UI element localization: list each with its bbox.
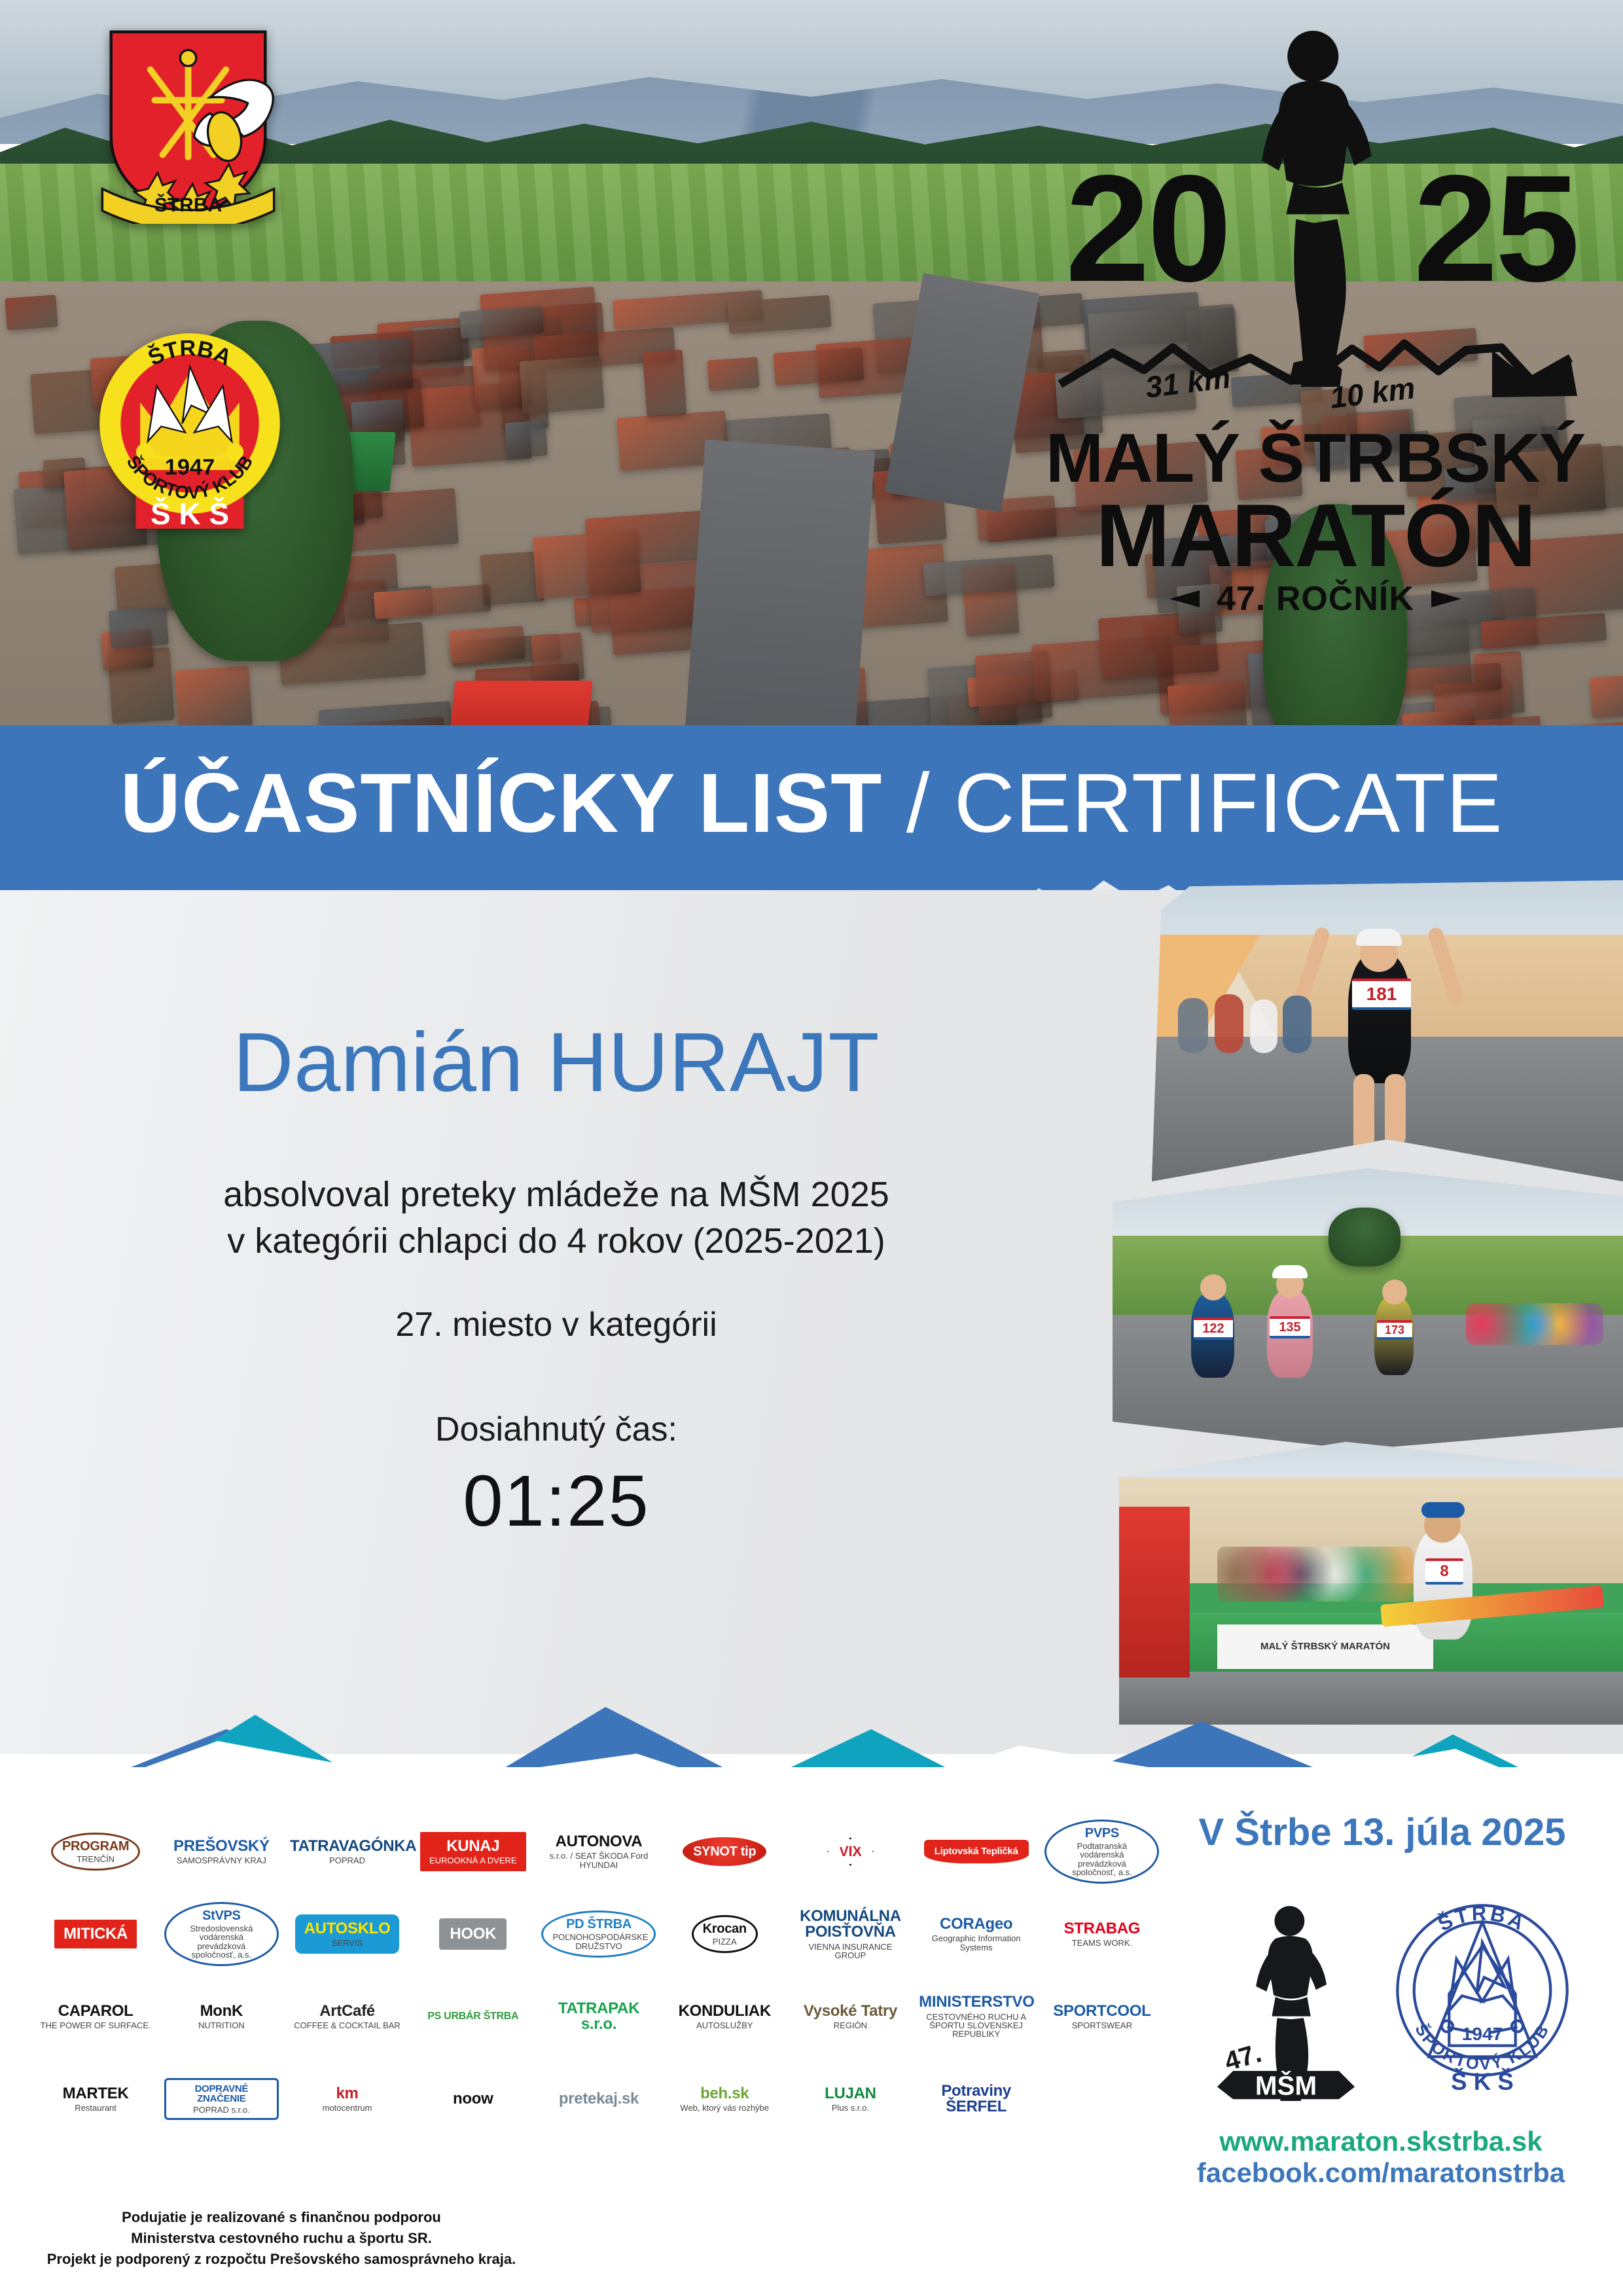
photo-collage: 181 122 135 173 MALÝ ŠTRBSKÝ MARATÓN xyxy=(1113,880,1623,1725)
brand-edition-label: 47. ROČNÍK xyxy=(1217,579,1414,619)
sponsor-name: SYNOT tip xyxy=(693,1845,756,1858)
sponsor-logo-mark: PD ŠTRBAPOĽNOHOSPODÁRSKE DRUŽSTVO xyxy=(541,1910,656,1958)
sponsor-name: TATRAVAGÓNKA xyxy=(290,1839,404,1854)
sponsor-logo-mark: StVPSStredoslovenská vodárenská prevádzk… xyxy=(164,1902,279,1966)
sponsor-name: PD ŠTRBA xyxy=(552,1918,645,1931)
arrow-right-icon xyxy=(1431,590,1461,607)
sponsor-tagline: TRENČÍN xyxy=(62,1855,129,1863)
sponsor-name: KOMUNÁLNA POISŤOVŇA xyxy=(793,1909,908,1941)
photo1-leg-right xyxy=(1385,1074,1406,1146)
sponsor-tagline: Web, ktorý vás rozhýbe xyxy=(680,2104,769,2112)
sponsor-logo: KOMUNÁLNA POISŤOVŇAVIENNA INSURANCE GROU… xyxy=(793,1909,908,1960)
sponsor-name: VIX xyxy=(839,1844,862,1859)
sponsor-name: Potraviny ŠERFEL xyxy=(919,2083,1033,2115)
sponsor-logo: Liptovská Tepličká xyxy=(924,1840,1029,1863)
photo2-pack xyxy=(1466,1303,1603,1345)
sponsor-name: KONDULIAK xyxy=(679,2003,771,2019)
description-line-1: absolvoval preteky mládeže na MŠM 2025 xyxy=(0,1172,1113,1218)
banner-title: ÚČASTNÍCKY LIST / CERTIFICATE xyxy=(0,762,1623,846)
sponsor-logo-mark: HOOK xyxy=(439,1918,507,1950)
sponsor-logo: PD ŠTRBAPOĽNOHOSPODÁRSKE DRUŽSTVO xyxy=(541,1910,656,1958)
sponsor-logo-mark: DOPRAVNÉ ZNAČENIEPOPRAD s.r.o. xyxy=(164,2078,279,2121)
sponsor-name: beh.sk xyxy=(680,2086,769,2102)
arrow-left-icon xyxy=(1169,590,1200,607)
banner-title-light: CERTIFICATE xyxy=(954,757,1503,850)
sponsor-logo: PROGRAMTRENČÍN xyxy=(51,1833,140,1871)
sks-badge-abbrev: Š K Š xyxy=(1451,2068,1514,2095)
sponsor-logo-mark: KrocanPIZZA xyxy=(692,1915,758,1954)
sponsor-section: PROGRAMTRENČÍNPREŠOVSKÝSAMOSPRÁVNY KRAJT… xyxy=(0,1767,1623,2296)
sponsor-logo-mark: TATRAPAK s.r.o. xyxy=(541,2001,656,2033)
sponsor-name: Liptovská Tepličká xyxy=(935,1846,1018,1856)
sponsor-name: PS URBÁR ŠTRBA xyxy=(427,2011,518,2022)
sks-badge-year: 1947 xyxy=(1462,2023,1503,2044)
sponsor-tagline: PIZZA xyxy=(703,1937,747,1946)
official-badges: 47. MŠM 1947 xyxy=(1178,1892,1584,2108)
sponsor-name: Krocan xyxy=(703,1922,747,1935)
sponsor-logo: Potraviny ŠERFEL xyxy=(919,2083,1033,2115)
sponsor-name: pretekaj.sk xyxy=(559,2091,639,2107)
sponsor-tagline: Stredoslovenská vodárenská prevádzková s… xyxy=(175,1924,268,1959)
photo3-red-arch-leg xyxy=(1119,1507,1190,1677)
time-label: Dosiahnutý čas: xyxy=(0,1407,1113,1452)
certificate-date: V Štrbe 13. júla 2025 xyxy=(1179,1810,1585,1854)
photo3-event-banner: MALÝ ŠTRBSKÝ MARATÓN xyxy=(1217,1624,1433,1669)
sponsor-logo-mark: beh.skWeb, ktorý vás rozhýbe xyxy=(680,2086,769,2113)
fineprint-line-2: Ministerstva cestovného ruchu a športu S… xyxy=(39,2228,524,2249)
description-line-2: v kategórii chlapci do 4 rokov (2025-202… xyxy=(0,1218,1113,1265)
rooftop xyxy=(727,295,831,334)
sponsor-logo-mark: kmmotocentrum xyxy=(323,2086,372,2113)
club-abbrev: Š K Š xyxy=(151,497,229,530)
sponsor-tagline: Geographic Information Systems xyxy=(919,1934,1033,1952)
rooftop xyxy=(109,607,168,649)
sponsor-logo-mark: PVPSPodtatranská vodárenská prevádzková … xyxy=(1044,1820,1159,1884)
sponsor-name: STRABAG xyxy=(1064,1921,1141,1937)
sponsor-logo: STRABAGTEAMS WORK. xyxy=(1064,1921,1141,1948)
sponsor-logo: SPORTCOOLSPORTSWEAR xyxy=(1053,2003,1150,2030)
sponsor-logo: TATRAPAK s.r.o. xyxy=(541,2001,656,2033)
sponsor-tagline: SPORTSWEAR xyxy=(1053,2021,1150,2030)
sponsor-logo-mark: PREŠOVSKÝSAMOSPRÁVNY KRAJ xyxy=(173,1839,270,1865)
sponsor-tagline: s.r.o. / SEAT ŠKODA Ford HYUNDAI xyxy=(541,1852,656,1869)
rooftop xyxy=(519,356,604,414)
sponsor-tagline: VIENNA INSURANCE GROUP xyxy=(793,1943,908,1960)
sponsor-logo: pretekaj.sk xyxy=(559,2091,639,2107)
photo3-winner-headband xyxy=(1421,1502,1465,1518)
sponsor-logo: KUNAJEUROOKNÁ A DVERE xyxy=(420,1832,526,1872)
fineprint-line-3: Projekt je podporený z rozpočtu Prešovsk… xyxy=(39,2249,524,2270)
sponsor-logo: DOPRAVNÉ ZNAČENIEPOPRAD s.r.o. xyxy=(164,2078,279,2121)
sks-strba-club-logo: 1947 ŠTRBA ŠPORTOVÝ KLUB Š K Š xyxy=(92,327,288,530)
photo2-lone-tree xyxy=(1329,1208,1400,1266)
sponsor-name: AUTOSKLO xyxy=(304,1921,391,1937)
sponsor-name: Vysoké Tatry xyxy=(804,2003,897,2019)
sponsor-name: PROGRAM xyxy=(62,1840,129,1853)
hero-road xyxy=(683,440,875,772)
photo3-spectators xyxy=(1217,1547,1414,1602)
sponsor-tagline: POĽNOHOSPODÁRSKE DRUŽSTVO xyxy=(552,1933,645,1950)
sponsor-tagline: POPRAD s.r.o. xyxy=(174,2106,269,2114)
brand-line-3-wrap: 47. ROČNÍK xyxy=(1034,579,1597,619)
sponsor-name: HOOK xyxy=(450,1926,496,1942)
sponsor-tagline: NUTRITION xyxy=(198,2021,245,2030)
brand-distances: 31 km 10 km xyxy=(1034,324,1597,403)
photo-finisher-celebrating: 181 xyxy=(1152,880,1623,1181)
sponsor-logo: PREŠOVSKÝSAMOSPRÁVNY KRAJ xyxy=(173,1839,270,1865)
sponsor-name: ArtCafé xyxy=(294,2003,401,2019)
rooftop xyxy=(175,666,253,733)
photo1-runner-cap xyxy=(1356,929,1402,946)
msm-badge-text: MŠM xyxy=(1255,2071,1317,2101)
rooftop xyxy=(975,651,1053,723)
crest-ribbon-label: ŠTRBA xyxy=(154,194,222,216)
sponsor-logo-mark: STRABAGTEAMS WORK. xyxy=(1064,1921,1141,1948)
sponsor-name: SPORTCOOL xyxy=(1053,2003,1150,2019)
sponsor-tagline: POPRAD xyxy=(290,1856,404,1865)
sponsor-logo-mark: MITICKÁ xyxy=(54,1920,137,1948)
funding-disclaimer: Podujatie je realizované s finančnou pod… xyxy=(39,2207,524,2270)
photo-finish-line: MALÝ ŠTRBSKÝ MARATÓN 8 xyxy=(1119,1430,1623,1725)
sponsor-logo: KrocanPIZZA xyxy=(692,1915,758,1954)
mountain-outline-icon xyxy=(1034,324,1597,409)
photo1-crowd-4 xyxy=(1283,996,1311,1053)
sponsor-tagline: COFFEE & COCKTAIL BAR xyxy=(294,2021,401,2030)
sponsor-logo-mark: CAPAROLTHE POWER OF SURFACE. xyxy=(41,2003,151,2030)
photo2-runner-1-head xyxy=(1200,1274,1226,1300)
brand-line-2: MARATÓN xyxy=(1034,484,1597,586)
sponsor-name: MARTEK xyxy=(63,2086,129,2102)
sponsor-logo: CAPAROLTHE POWER OF SURFACE. xyxy=(41,2003,151,2030)
sponsor-name: MINISTERSTVO xyxy=(919,1994,1033,2010)
sponsor-logo-grid: PROGRAMTRENČÍNPREŠOVSKÝSAMOSPRÁVNY KRAJT… xyxy=(36,1813,1162,2138)
rooftop xyxy=(505,420,547,457)
sponsor-name: CORAgeo xyxy=(919,1916,1033,1932)
sponsor-logo-mark: MARTEKRestaurant xyxy=(63,2086,129,2113)
participant-name: Damián HURAJT xyxy=(0,1014,1113,1111)
sponsor-logo-mark: Vysoké TatryREGIÓN xyxy=(804,2003,897,2030)
sks-badge-top-label: ŠTRBA xyxy=(1434,1902,1530,1936)
sponsor-tagline: REGIÓN xyxy=(804,2021,897,2030)
sponsor-logo-mark: MINISTERSTVOCESTOVNÉHO RUCHU A ŠPORTU SL… xyxy=(919,1994,1033,2038)
website-link[interactable]: www.maraton.skstrba.sk xyxy=(1185,2126,1577,2157)
sponsor-logo: MonKNUTRITION xyxy=(198,2003,245,2030)
photo2-runner-3-head xyxy=(1382,1280,1407,1304)
photo2-bib-1: 122 xyxy=(1194,1318,1233,1340)
sponsor-name: TATRAPAK s.r.o. xyxy=(541,2001,656,2033)
sponsor-logo-mark: noow xyxy=(453,2091,493,2107)
banner-title-bold: ÚČASTNÍCKY LIST xyxy=(120,757,883,850)
photo-runners-on-course: 122 135 173 xyxy=(1113,1168,1623,1450)
club-year: 1947 xyxy=(165,455,215,480)
contact-links: www.maraton.skstrba.sk facebook.com/mara… xyxy=(1185,2126,1577,2189)
rooftop xyxy=(531,632,584,683)
sponsor-name: KUNAJ xyxy=(429,1839,517,1854)
sponsor-logo: TATRAVAGÓNKAPOPRAD xyxy=(290,1839,404,1865)
photo2-bib-3: 173 xyxy=(1377,1320,1412,1340)
msm-47-badge: 47. MŠM xyxy=(1198,1898,1374,2101)
sponsor-name: MonK xyxy=(198,2003,245,2019)
sponsor-tagline: CESTOVNÉHO RUCHU A ŠPORTU SLOVENSKEJ REP… xyxy=(919,2013,1033,2039)
brand-year-right: 25 xyxy=(1414,167,1577,291)
rooftop xyxy=(707,357,759,391)
sponsor-name: CAPAROL xyxy=(41,2003,151,2019)
sponsor-name: PREŠOVSKÝ xyxy=(173,1839,270,1854)
rooftop xyxy=(643,350,687,417)
sponsor-logo: KONDULIAKAUTOSLUŽBY xyxy=(679,2003,771,2030)
sponsor-logo: ArtCaféCOFFEE & COCKTAIL BAR xyxy=(294,2003,401,2030)
sponsor-logo-mark: KOMUNÁLNA POISŤOVŇAVIENNA INSURANCE GROU… xyxy=(793,1909,908,1960)
photo1-bib: 181 xyxy=(1352,978,1411,1010)
photo2-runner-2-cap xyxy=(1272,1265,1308,1278)
banner-title-separator: / xyxy=(882,757,954,850)
sponsor-logo-mark: VIX xyxy=(827,1837,874,1866)
sponsor-name: km xyxy=(323,2086,372,2102)
sponsor-logo: SYNOT tip xyxy=(683,1837,766,1866)
sponsor-name: PVPS xyxy=(1056,1827,1148,1840)
sponsor-tagline: Restaurant xyxy=(63,2104,129,2112)
sponsor-logo-mark: CORAgeoGeographic Information Systems xyxy=(919,1916,1033,1952)
time-value: 01:25 xyxy=(0,1460,1113,1543)
sponsor-tagline: EUROOKNÁ A DVERE xyxy=(429,1856,517,1865)
sponsor-logo-mark: AUTOSKLOSERVIS xyxy=(295,1914,400,1954)
sponsor-logo-mark: TATRAVAGÓNKAPOPRAD xyxy=(290,1839,404,1865)
sks-stamp-badge: 1947 ŠTRBA ŠPORTOVÝ KLUB Š K Š xyxy=(1387,1898,1577,2101)
sponsor-logo: AUTOSKLOSERVIS xyxy=(295,1914,400,1954)
sponsor-tagline: SAMOSPRÁVNY KRAJ xyxy=(173,1856,270,1865)
sponsor-logo-mark: Potraviny ŠERFEL xyxy=(919,2083,1033,2115)
sponsor-logo: HOOK xyxy=(439,1918,507,1950)
sponsor-name: AUTONOVA xyxy=(541,1834,656,1850)
rooftop xyxy=(1168,681,1247,732)
rooftop xyxy=(5,295,58,330)
sponsor-tagline: SERVIS xyxy=(304,1939,391,1947)
photo1-runner-body xyxy=(1348,952,1411,1083)
sponsor-tagline: Podtatranská vodárenská prevádzková spol… xyxy=(1056,1842,1148,1876)
sponsor-tagline: motocentrum xyxy=(323,2104,372,2112)
sponsor-logo-mark: KUNAJEUROOKNÁ A DVERE xyxy=(420,1832,526,1872)
photo1-crowd-2 xyxy=(1215,994,1243,1053)
facebook-link[interactable]: facebook.com/maratonstrba xyxy=(1185,2157,1577,2189)
sponsor-logo: PVPSPodtatranská vodárenská prevádzková … xyxy=(1044,1820,1159,1884)
sponsor-name: noow xyxy=(453,2091,493,2107)
rooftop xyxy=(1590,675,1623,719)
sponsor-logo-mark: LUJANPlus s.r.o. xyxy=(825,2086,876,2113)
sponsor-logo: LUJANPlus s.r.o. xyxy=(825,2086,876,2113)
sponsor-logo: Vysoké TatryREGIÓN xyxy=(804,2003,897,2030)
sponsor-logo-mark: pretekaj.sk xyxy=(559,2091,639,2107)
sponsor-tagline: AUTOSLUŽBY xyxy=(679,2021,771,2030)
sponsor-tagline: TEAMS WORK. xyxy=(1064,1939,1141,1947)
sponsor-logo-mark: SPORTCOOLSPORTSWEAR xyxy=(1053,2003,1150,2030)
sponsor-logo-mark: AUTONOVAs.r.o. / SEAT ŠKODA Ford HYUNDAI xyxy=(541,1834,656,1869)
sponsor-logo: AUTONOVAs.r.o. / SEAT ŠKODA Ford HYUNDAI xyxy=(541,1834,656,1869)
marathon-brand-block: 20 25 31 km 10 km MALÝ ŠTRBSKÝ MARATÓN 4… xyxy=(1034,26,1597,622)
sponsor-logo: CORAgeoGeographic Information Systems xyxy=(919,1916,1033,1952)
sponsor-tagline: THE POWER OF SURFACE. xyxy=(41,2021,151,2030)
certificate-description: absolvoval preteky mládeže na MŠM 2025 v… xyxy=(0,1172,1113,1265)
photo1-crowd-1 xyxy=(1178,998,1208,1053)
photo3-bib: 8 xyxy=(1425,1558,1463,1585)
sponsor-name: MITICKÁ xyxy=(63,1926,128,1942)
sponsor-logo-mark: PS URBÁR ŠTRBA xyxy=(425,2009,521,2024)
sponsor-logo: MARTEKRestaurant xyxy=(63,2086,129,2113)
sponsor-name: DOPRAVNÉ ZNAČENIE xyxy=(174,2084,269,2104)
sponsor-logo: VIX xyxy=(827,1837,874,1866)
sponsor-logo-mark: MonKNUTRITION xyxy=(198,2003,245,2030)
sponsor-name: StVPS xyxy=(175,1909,268,1922)
rooftop xyxy=(448,626,525,664)
sponsor-logo: beh.skWeb, ktorý vás rozhýbe xyxy=(680,2086,769,2113)
sponsor-logo-mark: ArtCaféCOFFEE & COCKTAIL BAR xyxy=(294,2003,401,2030)
photo1-crowd-3 xyxy=(1250,999,1277,1053)
brand-year-left: 20 xyxy=(1065,167,1229,291)
sponsor-logo-mark: KONDULIAKAUTOSLUŽBY xyxy=(679,2003,771,2030)
sponsor-logo: PS URBÁR ŠTRBA xyxy=(425,2009,521,2024)
placement-text: 27. miesto v kategórii xyxy=(0,1302,1113,1348)
strba-coat-of-arms: ŠTRBA xyxy=(98,27,278,224)
sponsor-name: LUJAN xyxy=(825,2086,876,2102)
sponsor-logo-mark: SYNOT tip xyxy=(683,1837,766,1866)
sponsor-logo: kmmotocentrum xyxy=(323,2086,372,2113)
sponsor-logo-mark: Liptovská Tepličká xyxy=(924,1840,1029,1863)
rooftop xyxy=(533,530,641,599)
fineprint-line-1: Podujatie je realizované s finančnou pod… xyxy=(39,2207,524,2228)
rooftop xyxy=(773,347,864,386)
sponsor-tagline: Plus s.r.o. xyxy=(825,2104,876,2112)
sponsor-logo-mark: PROGRAMTRENČÍN xyxy=(51,1833,140,1871)
photo1-leg-left xyxy=(1353,1074,1374,1153)
sponsor-logo: noow xyxy=(453,2091,493,2107)
photo2-bib-2: 135 xyxy=(1270,1316,1310,1338)
sponsor-logo: StVPSStredoslovenská vodárenská prevádzk… xyxy=(164,1902,279,1966)
sponsor-logo: MITICKÁ xyxy=(54,1920,137,1948)
sponsor-logo: MINISTERSTVOCESTOVNÉHO RUCHU A ŠPORTU SL… xyxy=(919,1994,1033,2038)
